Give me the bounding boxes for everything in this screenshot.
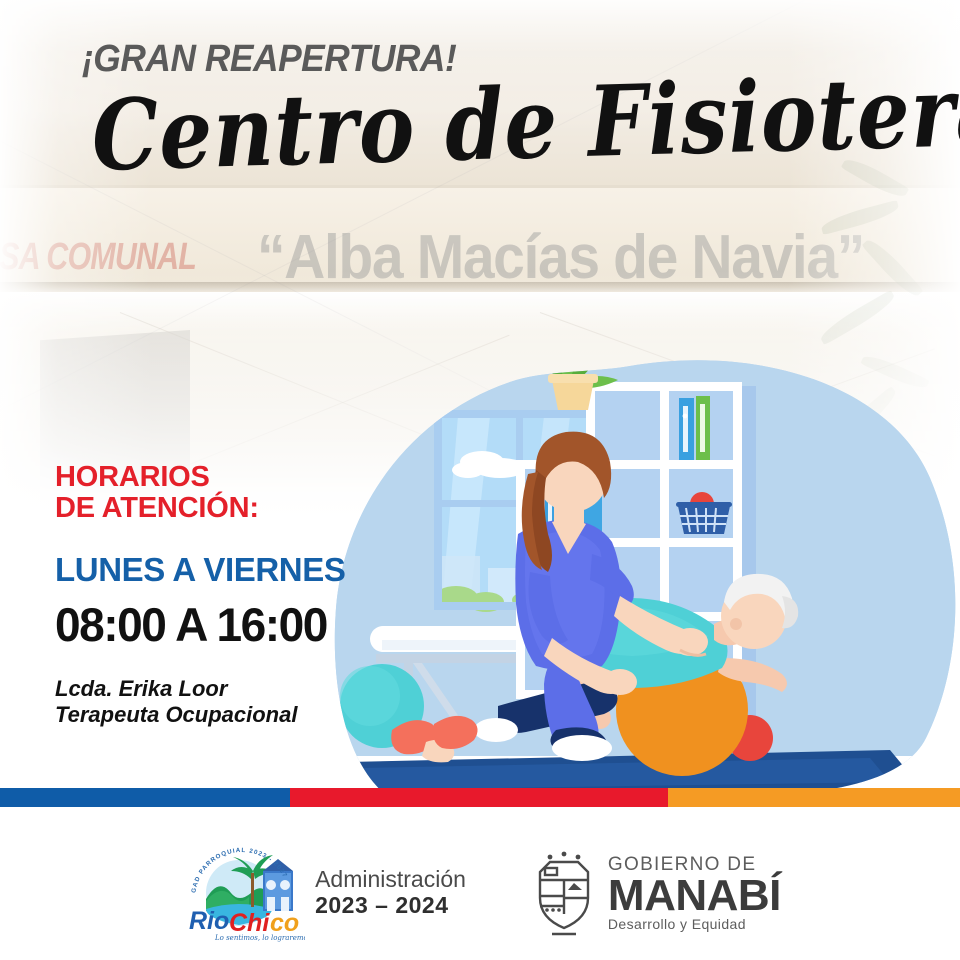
manabi-line2: MANABÍ xyxy=(608,874,781,917)
schedule-days: LUNES A VIERNES xyxy=(55,551,345,589)
manabi-logo-block: GOBIERNO DE MANABÍ Desarrollo y Equidad xyxy=(530,850,781,936)
schedule-hours: 08:00 A 16:00 xyxy=(55,597,340,652)
riochico-logo-icon: GAD PARROQUIAL 2023 - 2027 Rio Chi co Lo… xyxy=(179,843,305,943)
professional-name: Lcda. Erika Loor xyxy=(55,676,345,703)
schedule-block: HORARIOS DE ATENCIÓN: LUNES A VIERNES 08… xyxy=(55,462,345,729)
riochico-tagline: Lo sentimos, lo lograremos xyxy=(214,934,305,942)
riochico-word-co: co xyxy=(270,909,299,937)
administration-years: 2023 – 2024 xyxy=(315,893,466,919)
stripe-segment-orange xyxy=(668,788,960,807)
administration-text: Administración 2023 – 2024 xyxy=(315,867,466,919)
therapy-illustration xyxy=(330,358,960,798)
schedule-heading: HORARIOS DE ATENCIÓN: xyxy=(55,462,345,525)
riochico-logo-block: GAD PARROQUIAL 2023 - 2027 Rio Chi co Lo… xyxy=(179,843,466,943)
stripe-segment-blue xyxy=(0,788,290,807)
manabi-text: GOBIERNO DE MANABÍ Desarrollo y Equidad xyxy=(608,855,781,931)
riochico-word-chi: Chi xyxy=(229,909,270,937)
schedule-heading-line2: DE ATENCIÓN: xyxy=(55,493,345,524)
poster-root: ASA COMUNAL “Alba Macías de Navia” ¡GRAN… xyxy=(0,0,960,960)
tricolor-stripe xyxy=(0,788,960,807)
schedule-heading-line1: HORARIOS xyxy=(55,462,345,493)
professional-title: Terapeuta Ocupacional xyxy=(55,702,345,729)
professional-info: Lcda. Erika Loor Terapeuta Ocupacional xyxy=(55,676,345,730)
stripe-segment-red xyxy=(290,788,668,807)
administration-label: Administración xyxy=(315,867,466,893)
footer: GAD PARROQUIAL 2023 - 2027 Rio Chi co Lo… xyxy=(0,826,960,960)
riochico-word-rio: Rio xyxy=(189,907,229,935)
manabi-shield-icon xyxy=(530,850,598,936)
